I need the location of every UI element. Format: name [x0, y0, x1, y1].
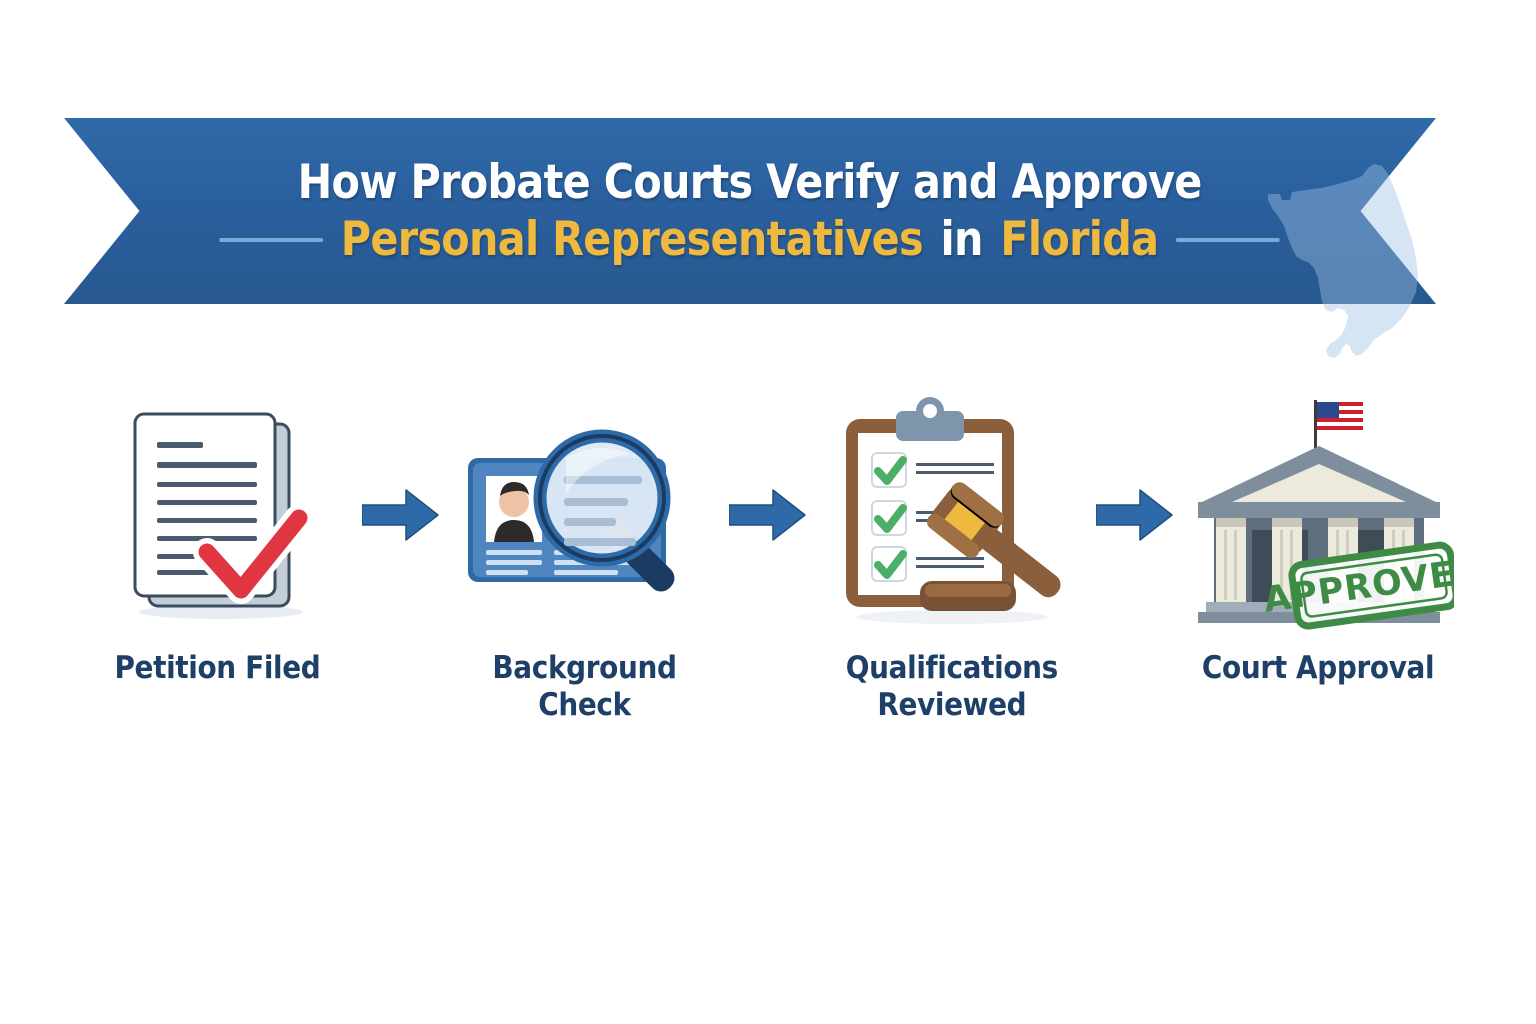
step-4-label: Court Approval: [1202, 650, 1434, 687]
step-4-artwork: APPROVED: [1184, 390, 1454, 640]
banner-title-line1: How Probate Courts Verify and Approve: [298, 155, 1202, 210]
step-2-label: Background Check: [461, 650, 709, 723]
step-qualifications-reviewed[interactable]: Qualifications Reviewed: [814, 390, 1089, 723]
banner-subtitle-row: Personal Representatives in Florida: [220, 212, 1280, 267]
arrow-step3-to-step4: [1089, 390, 1181, 640]
title-banner: How Probate Courts Verify and Approve Pe…: [64, 118, 1436, 304]
banner-subtitle-connector: in: [941, 212, 983, 267]
step-1-artwork: [83, 390, 353, 640]
step-1-label: Petition Filed: [115, 650, 321, 687]
courthouse-approved-stamp-icon: APPROVED: [1184, 390, 1454, 640]
right-arrow-icon: [1096, 488, 1174, 542]
step-background-check[interactable]: Background Check: [447, 390, 722, 723]
step-3-artwork: [817, 390, 1087, 640]
right-arrow-icon: [362, 488, 440, 542]
banner-subtitle-gold-2: Florida: [1001, 212, 1159, 267]
arrow-step1-to-step2: [355, 390, 447, 640]
document-with-checkmark-icon: [103, 400, 333, 630]
clipboard-checklist-gavel-icon: [824, 395, 1079, 635]
step-petition-filed[interactable]: Petition Filed: [80, 390, 355, 687]
right-arrow-icon: [729, 488, 807, 542]
subtitle-rule-left: [220, 238, 324, 242]
step-2-artwork: [450, 390, 720, 640]
process-flow: Petition Filed: [80, 390, 1456, 770]
banner-text-block: How Probate Courts Verify and Approve Pe…: [139, 118, 1360, 304]
step-3-label: Qualifications Reviewed: [845, 650, 1057, 723]
subtitle-rule-right: [1176, 238, 1280, 242]
step-court-approval[interactable]: APPROVED Court Approval: [1181, 390, 1456, 687]
step-3-label-line1: Qualifications: [845, 650, 1057, 686]
banner-subtitle-gold-1: Personal Representatives: [341, 212, 923, 267]
arrow-step2-to-step3: [722, 390, 814, 640]
step-3-label-line2: Reviewed: [877, 687, 1026, 723]
id-card-magnifier-icon: [460, 410, 710, 620]
infographic-canvas: How Probate Courts Verify and Approve Pe…: [0, 0, 1536, 1024]
